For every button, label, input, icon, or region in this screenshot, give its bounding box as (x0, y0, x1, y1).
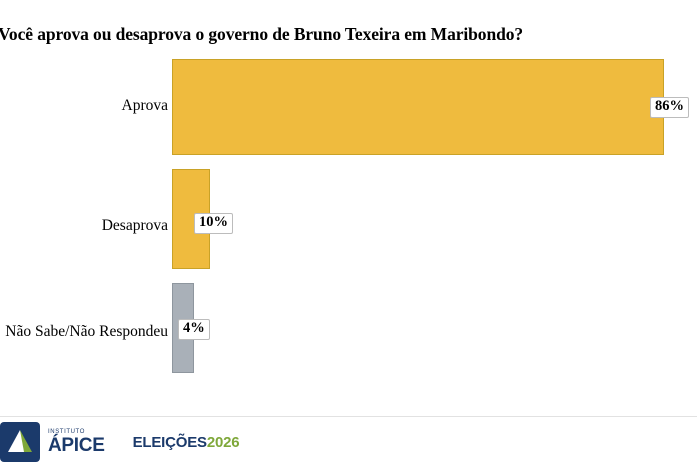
category-label: Aprova (0, 97, 168, 115)
value-label-aprova: 86% (650, 97, 689, 118)
chart-title: Você aprova ou desaprova o governo de Br… (0, 24, 688, 45)
category-label: Não Sabe/Não Respondeu (0, 323, 168, 341)
bar-row: Aprova 86% (0, 59, 697, 155)
brand-text: INSTITUTO ÁPICE (48, 429, 105, 455)
footer-bar: INSTITUTO ÁPICE ELEIÇÕES2026 (0, 416, 697, 465)
chart-container: Você aprova ou desaprova o governo de Br… (0, 0, 697, 465)
apice-logo-icon (0, 422, 40, 462)
campaign-label: ELEIÇÕES2026 (133, 434, 240, 451)
bar-aprova (172, 59, 664, 155)
category-label: Desaprova (0, 217, 168, 235)
brand-name-label: ÁPICE (48, 436, 105, 455)
brand-block: INSTITUTO ÁPICE ELEIÇÕES2026 (0, 419, 210, 465)
plot-area: Aprova 86% Desaprova 10% Não Sabe/Não Re… (0, 55, 697, 385)
bar-row: Não Sabe/Não Respondeu 4% (0, 283, 697, 373)
campaign-year: 2026 (207, 434, 240, 451)
value-label-desaprova: 10% (194, 213, 233, 234)
value-label-nao-sabe: 4% (178, 319, 210, 340)
campaign-name: ELEIÇÕES (133, 434, 207, 451)
bar-row: Desaprova 10% (0, 169, 697, 269)
